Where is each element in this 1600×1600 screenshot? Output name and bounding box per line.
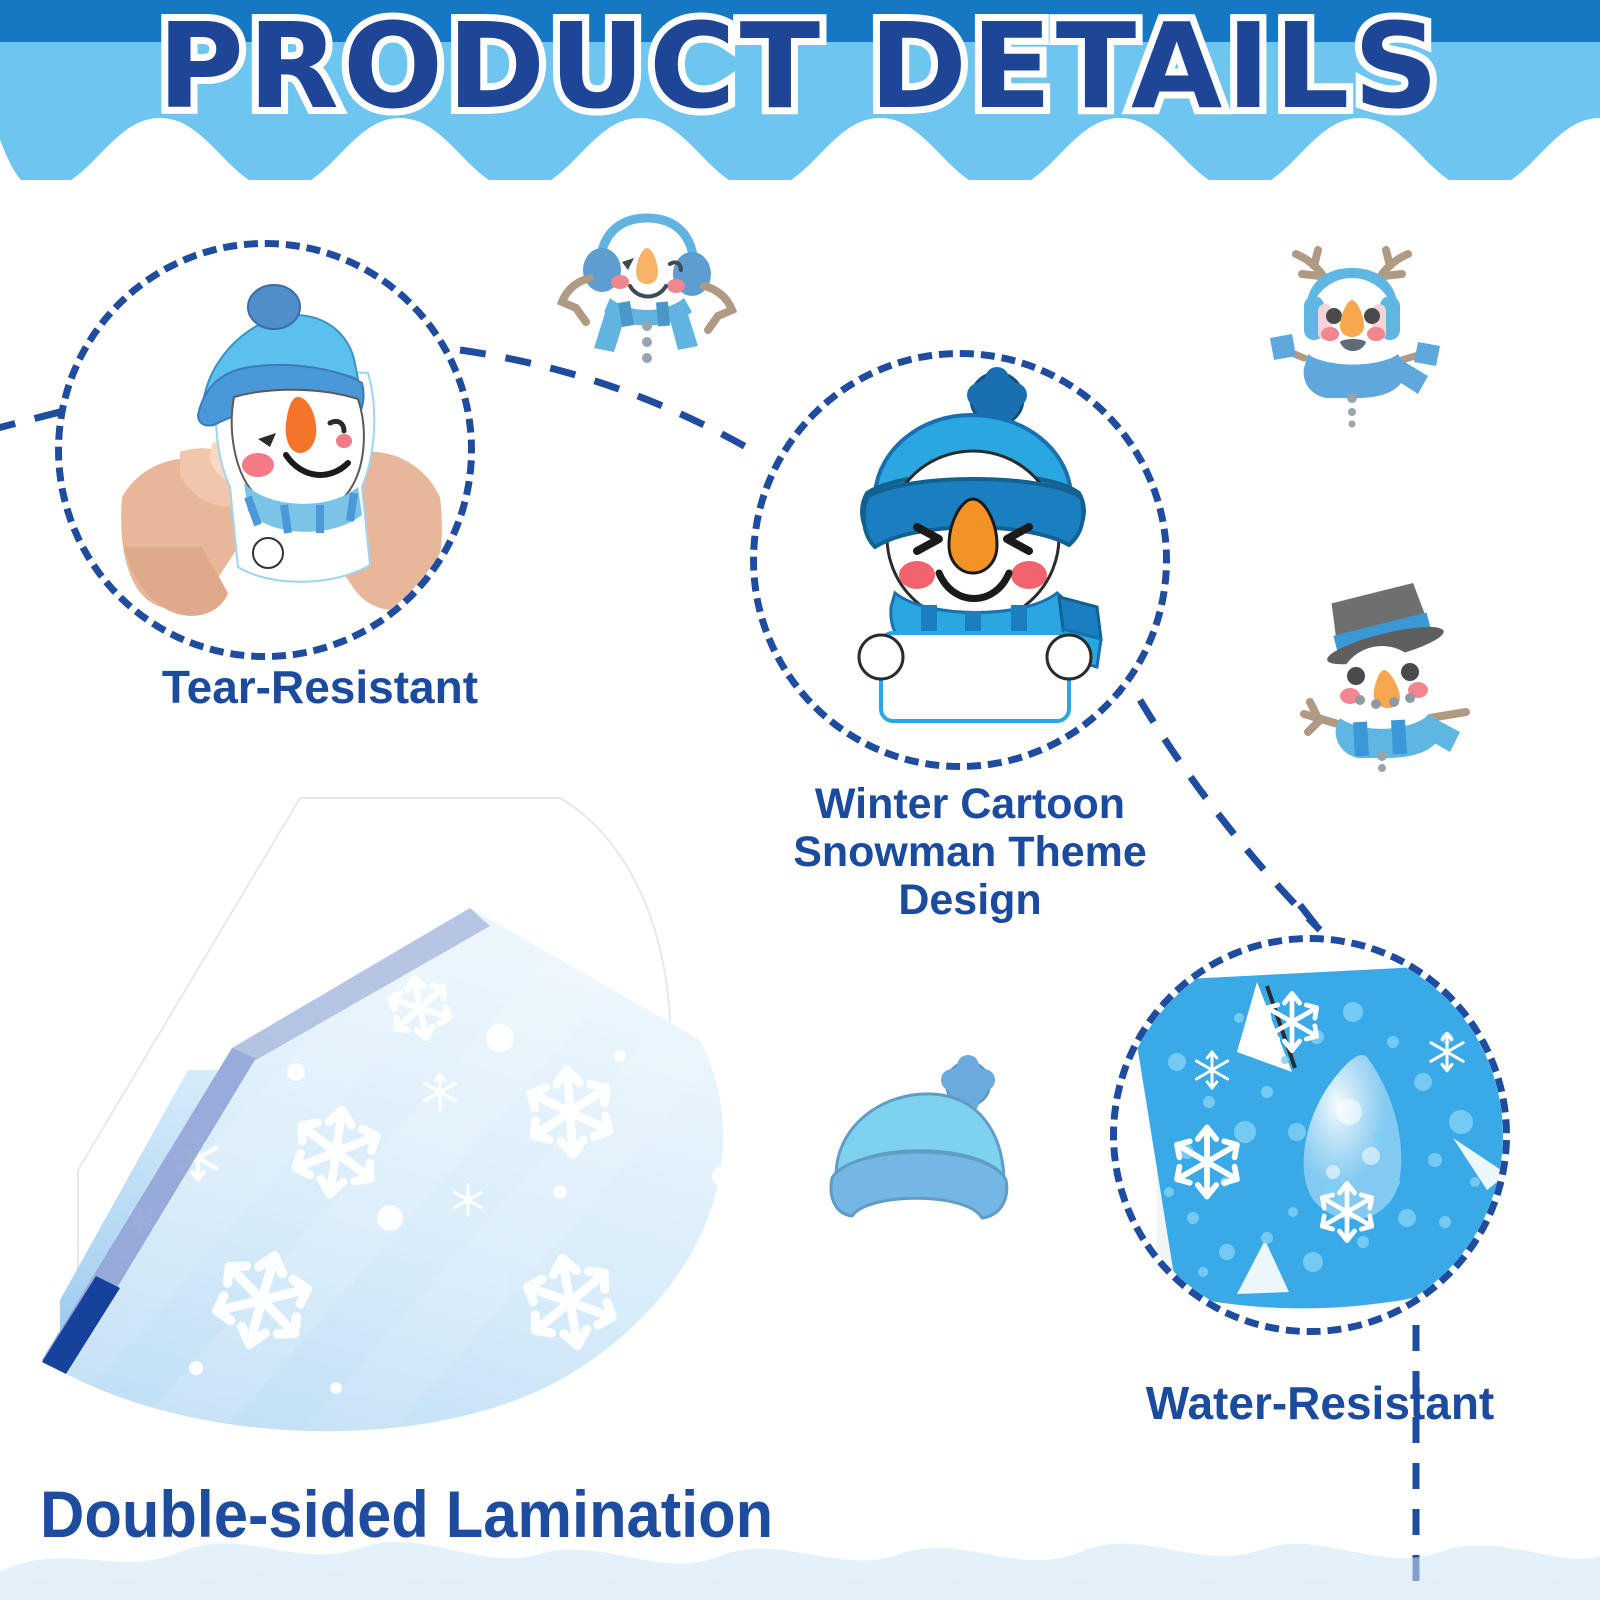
feature-circle-water-resistant (1110, 935, 1510, 1335)
water-resistant-illustration (1117, 942, 1503, 1328)
feature-circle-tear-resistant (55, 240, 475, 660)
double-sided-lamination-illustration (0, 740, 800, 1440)
feature-label-water-resistant: Water-Resistant (1040, 1378, 1600, 1430)
header-banner: PRODUCT DETAILS (0, 0, 1600, 175)
feature-label-tear-resistant: Tear-Resistant (20, 662, 620, 714)
tear-resistant-illustration (62, 247, 468, 653)
connector-water-top-tick (1300, 905, 1318, 928)
page-title: PRODUCT DETAILS (0, 0, 1600, 136)
beanie-hat-icon (806, 1026, 1026, 1226)
snowman-earmuffs-icon (552, 190, 742, 380)
snowman-antlers-icon (1252, 238, 1452, 428)
snowman-holding-sign-illustration (757, 357, 1163, 763)
snowman-tophat-icon (1282, 572, 1482, 772)
feature-circle-winter-cartoon-theme (750, 350, 1170, 770)
infographic-canvas: PRODUCT DETAILS (0, 0, 1600, 1600)
bottom-snow-texture (0, 1500, 1600, 1600)
